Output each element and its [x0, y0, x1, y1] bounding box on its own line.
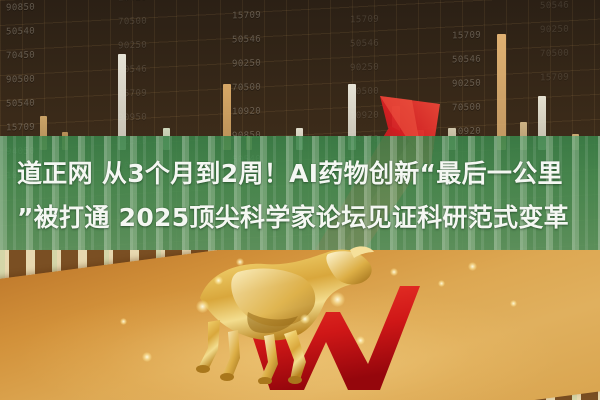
ghost-number-column: 1570950546902507050010920 — [452, 24, 481, 145]
headline-line-2: ”被打通 2025顶尖科学家论坛见证科研范式变革 — [17, 196, 600, 240]
headline-line-1: 道正网 从3个月到2周！AI药物创新“最后一公里 — [17, 152, 600, 196]
headline-block: 道正网 从3个月到2周！AI药物创新“最后一公里 ”被打通 2025顶尖科学家论… — [0, 138, 600, 254]
golden-bull-icon — [178, 246, 378, 384]
ghost-number-column: 50546902507050015709 — [540, 0, 569, 90]
dark-chart-bar — [497, 34, 506, 150]
news-banner: 9085050540704509050050540157099405010920… — [0, 0, 600, 400]
